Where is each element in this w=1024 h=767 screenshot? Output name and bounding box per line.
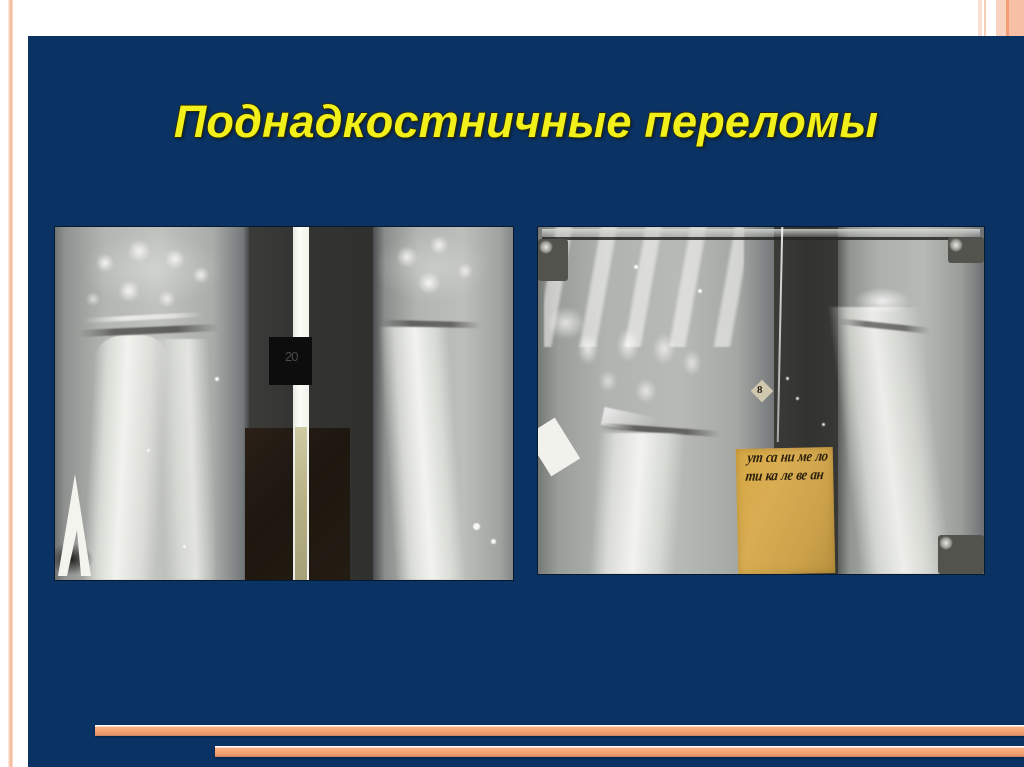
film-clip-top-left — [538, 239, 568, 281]
film-speck — [147, 449, 150, 452]
film-speck — [796, 397, 799, 400]
page-title: Поднадкостничные переломы — [68, 96, 984, 148]
film-clip-top-right — [948, 237, 984, 263]
diamond-marker-text: 8 — [757, 384, 763, 396]
film-speck — [215, 377, 219, 381]
slide-canvas: Поднадкостничные переломы 20 — [0, 0, 1024, 767]
stripe-6 — [1009, 0, 1024, 36]
film-clip-bottom-right — [938, 535, 984, 574]
film-speck — [786, 377, 789, 380]
stripe-2 — [984, 0, 986, 36]
xray-image-right: 8 ут са ни ме ло ти ка ле ве ан — [538, 227, 984, 574]
film-speck — [183, 545, 186, 548]
peach-vertical-stripes-top-right — [978, 0, 1024, 36]
slide-body-panel: Поднадкостничные переломы 20 — [28, 36, 1024, 767]
white-arrow-pointer — [57, 472, 93, 580]
film-speck — [473, 523, 480, 530]
film-speck — [491, 539, 496, 544]
white-vertical-strip-lower — [295, 427, 307, 580]
film-speck — [634, 265, 638, 269]
stripe-4 — [996, 0, 1006, 36]
film-speck — [822, 423, 825, 426]
accent-bar-lower — [215, 746, 1024, 757]
paper-label-handwriting: ут са ни ме ло ти ка ле ве ан — [730, 437, 842, 574]
peach-vertical-rule-left — [8, 0, 13, 767]
film-top-edge-line — [542, 237, 980, 240]
stripe-1 — [978, 0, 982, 36]
film-speck — [698, 289, 702, 293]
stripe-3 — [991, 0, 994, 36]
strip-label-text: 20 — [285, 349, 297, 364]
ulna-shaft-first-view — [157, 339, 217, 580]
paper-label: ут са ни ме ло ти ка ле ве ан — [736, 447, 836, 574]
xray-image-left: 20 — [55, 227, 513, 580]
accent-bar-upper — [95, 725, 1024, 736]
radius-shaft — [589, 433, 685, 574]
film-top-highlight — [542, 229, 980, 237]
